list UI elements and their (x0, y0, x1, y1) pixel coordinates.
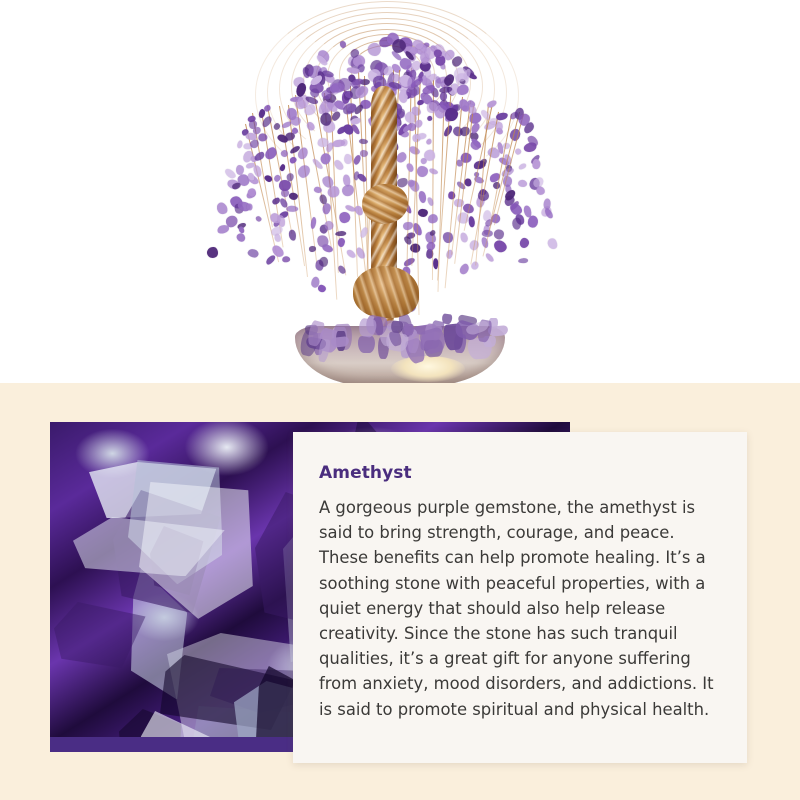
amethyst-chip (286, 206, 298, 212)
geode-base (295, 308, 505, 383)
amethyst-chip (544, 208, 555, 220)
amethyst-chip (426, 212, 439, 224)
amethyst-chip (518, 237, 529, 249)
amethyst-chip (235, 232, 247, 244)
amethyst-chip (468, 216, 475, 228)
amethyst-chip (246, 202, 253, 210)
amethyst-chip (429, 229, 437, 237)
amethyst-chip (319, 256, 329, 267)
page-title: Amethyst (319, 463, 717, 483)
amethyst-chip (546, 237, 559, 251)
amethyst-chip (418, 190, 427, 203)
amethyst-chip (492, 238, 509, 254)
amethyst-chip (496, 122, 503, 131)
amethyst-chip (205, 245, 220, 260)
amethyst-chip (308, 245, 316, 252)
amethyst-description: A gorgeous purple gemstone, the amethyst… (319, 495, 717, 722)
amethyst-chip (528, 215, 539, 228)
amethyst-chip (514, 148, 522, 156)
amethyst-chip (282, 256, 290, 263)
amethyst-chip (485, 252, 495, 263)
hero-section (0, 0, 800, 383)
amethyst-chip (517, 162, 527, 171)
amethyst-chip (459, 232, 469, 244)
product-detail-page: Amethyst A gorgeous purple gemstone, the… (0, 0, 800, 800)
amethyst-chip (255, 215, 263, 223)
amethyst-chip (265, 254, 277, 266)
amethyst-chip (338, 210, 352, 225)
amethyst-chip (286, 173, 294, 182)
amethyst-chip (427, 196, 435, 206)
amethyst-chip (533, 159, 541, 170)
tree-canopy (245, 8, 555, 308)
amethyst-chip (288, 229, 297, 241)
amethyst-chip (215, 201, 230, 217)
amethyst-chip (231, 182, 242, 191)
amethyst-chip (247, 248, 259, 259)
amethyst-chip (320, 113, 332, 126)
amethyst-chip (418, 209, 428, 217)
amethyst-chip (518, 179, 528, 187)
amethyst-chip (289, 192, 299, 200)
amethyst-chip (280, 188, 290, 198)
amethyst-chip (317, 284, 326, 293)
amethyst-chip (237, 140, 244, 149)
geode-crystal-point (404, 324, 414, 335)
amethyst-tree-product-photo (245, 8, 555, 383)
amethyst-chip (512, 217, 521, 229)
amethyst-chip (493, 229, 504, 239)
crystal-facet (54, 602, 146, 668)
amethyst-chip (322, 202, 332, 215)
feature-section: Amethyst A gorgeous purple gemstone, the… (0, 383, 800, 800)
amethyst-chip (458, 262, 470, 276)
amethyst-chip (337, 238, 345, 248)
geode-highlight (391, 356, 465, 382)
crystal-facet (139, 482, 253, 619)
amethyst-info-card: Amethyst A gorgeous purple gemstone, the… (293, 432, 747, 763)
amethyst-chip (518, 257, 528, 263)
